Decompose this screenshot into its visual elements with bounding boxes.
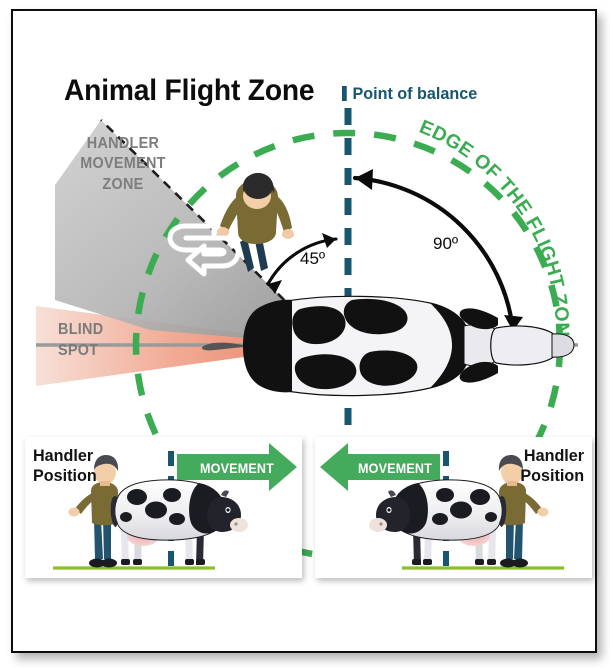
panel-left: Handler Position MOVEMENT (25, 437, 302, 578)
movement-label: MOVEMENT (358, 461, 432, 476)
point-of-balance-text: Point of balance (352, 84, 477, 103)
handler-position-line-2: Position (33, 466, 97, 486)
cow-side-view-icon (369, 480, 506, 565)
handler-position-line-1: Handler (520, 446, 584, 466)
blind-spot-line-2: SPOT (58, 341, 103, 362)
blind-spot-label: BLIND SPOT (58, 320, 103, 362)
angle-90-label: 90º (433, 234, 458, 254)
diagram-stage: EDGE OF THE FLIGHT ZONE (0, 0, 610, 668)
page-title: Animal Flight Zone (64, 74, 314, 108)
point-of-balance-tick-icon (342, 86, 347, 101)
point-of-balance-label: Point of balance (342, 84, 477, 104)
handler-position-line-2: Position (520, 466, 584, 486)
handler-position-label: Handler Position (33, 446, 97, 487)
handler-position-line-1: Handler (33, 446, 97, 466)
handler-position-label: Handler Position (520, 446, 584, 487)
hmz-line-1: HANDLER (64, 134, 181, 154)
movement-label: MOVEMENT (200, 461, 274, 476)
handler-movement-zone-label: HANDLER MOVEMENT ZONE (64, 134, 181, 195)
angle-45-label: 45º (300, 249, 325, 269)
hmz-line-3: ZONE (64, 175, 181, 195)
cow-side-view-icon (111, 480, 248, 565)
blind-spot-line-1: BLIND (58, 320, 103, 341)
hmz-line-2: MOVEMENT (64, 154, 181, 174)
cow-top-view-icon (202, 296, 574, 395)
panel-right: Handler Position MOVEMENT (315, 437, 592, 578)
